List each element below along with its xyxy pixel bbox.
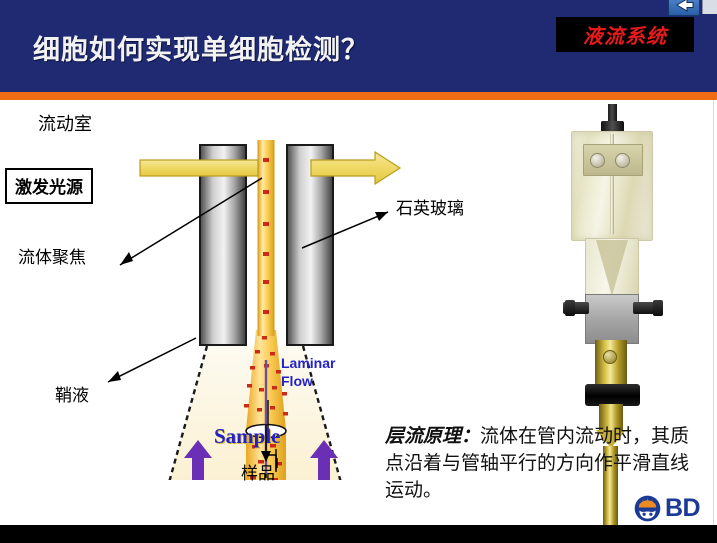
bd-logo-text: BD [665,496,700,521]
photo-port-tip-right [653,300,663,316]
header-accent-bar [0,92,717,100]
label-sheath-fluid: 鞘液 [55,381,89,406]
window-chrome-edge [702,0,717,14]
principle-lead: 层流原理： [385,426,480,447]
section-badge-label: 液流系统 [583,20,667,49]
photo-port-tip-left [565,300,575,316]
slide-title: 细胞如何实现单细胞检测？ [33,28,369,67]
label-excitation-light-source: 激发光源 [5,168,93,204]
presentation-slide: 细胞如何实现单细胞检测？ 液流系统 [0,0,717,543]
principle-paragraph: 层流原理：流体在管内流动时，其质点沿着与管轴平行的方向作平滑直线运动。 [385,424,705,505]
photo-screw-left [590,153,605,168]
photo-funnel-cone [596,240,628,296]
section-badge: 液流系统 [556,17,694,52]
label-fluid-focusing: 流体聚焦 [18,243,86,268]
back-arrow-icon[interactable] [668,0,700,16]
label-quartz-glass: 石英玻璃 [396,194,464,219]
label-flow-chamber: 流动室 [38,110,92,136]
photo-metal-housing [585,294,639,344]
bd-sunrise-icon [634,495,661,522]
bd-logo: BD [634,495,700,522]
photo-black-collar [585,384,640,406]
photo-brass-knob [603,350,617,364]
slide-right-edge [713,100,717,525]
photo-screw-right [615,153,630,168]
slide-bottom-band [0,525,717,543]
label-sample-cn: 样品 [241,459,275,484]
